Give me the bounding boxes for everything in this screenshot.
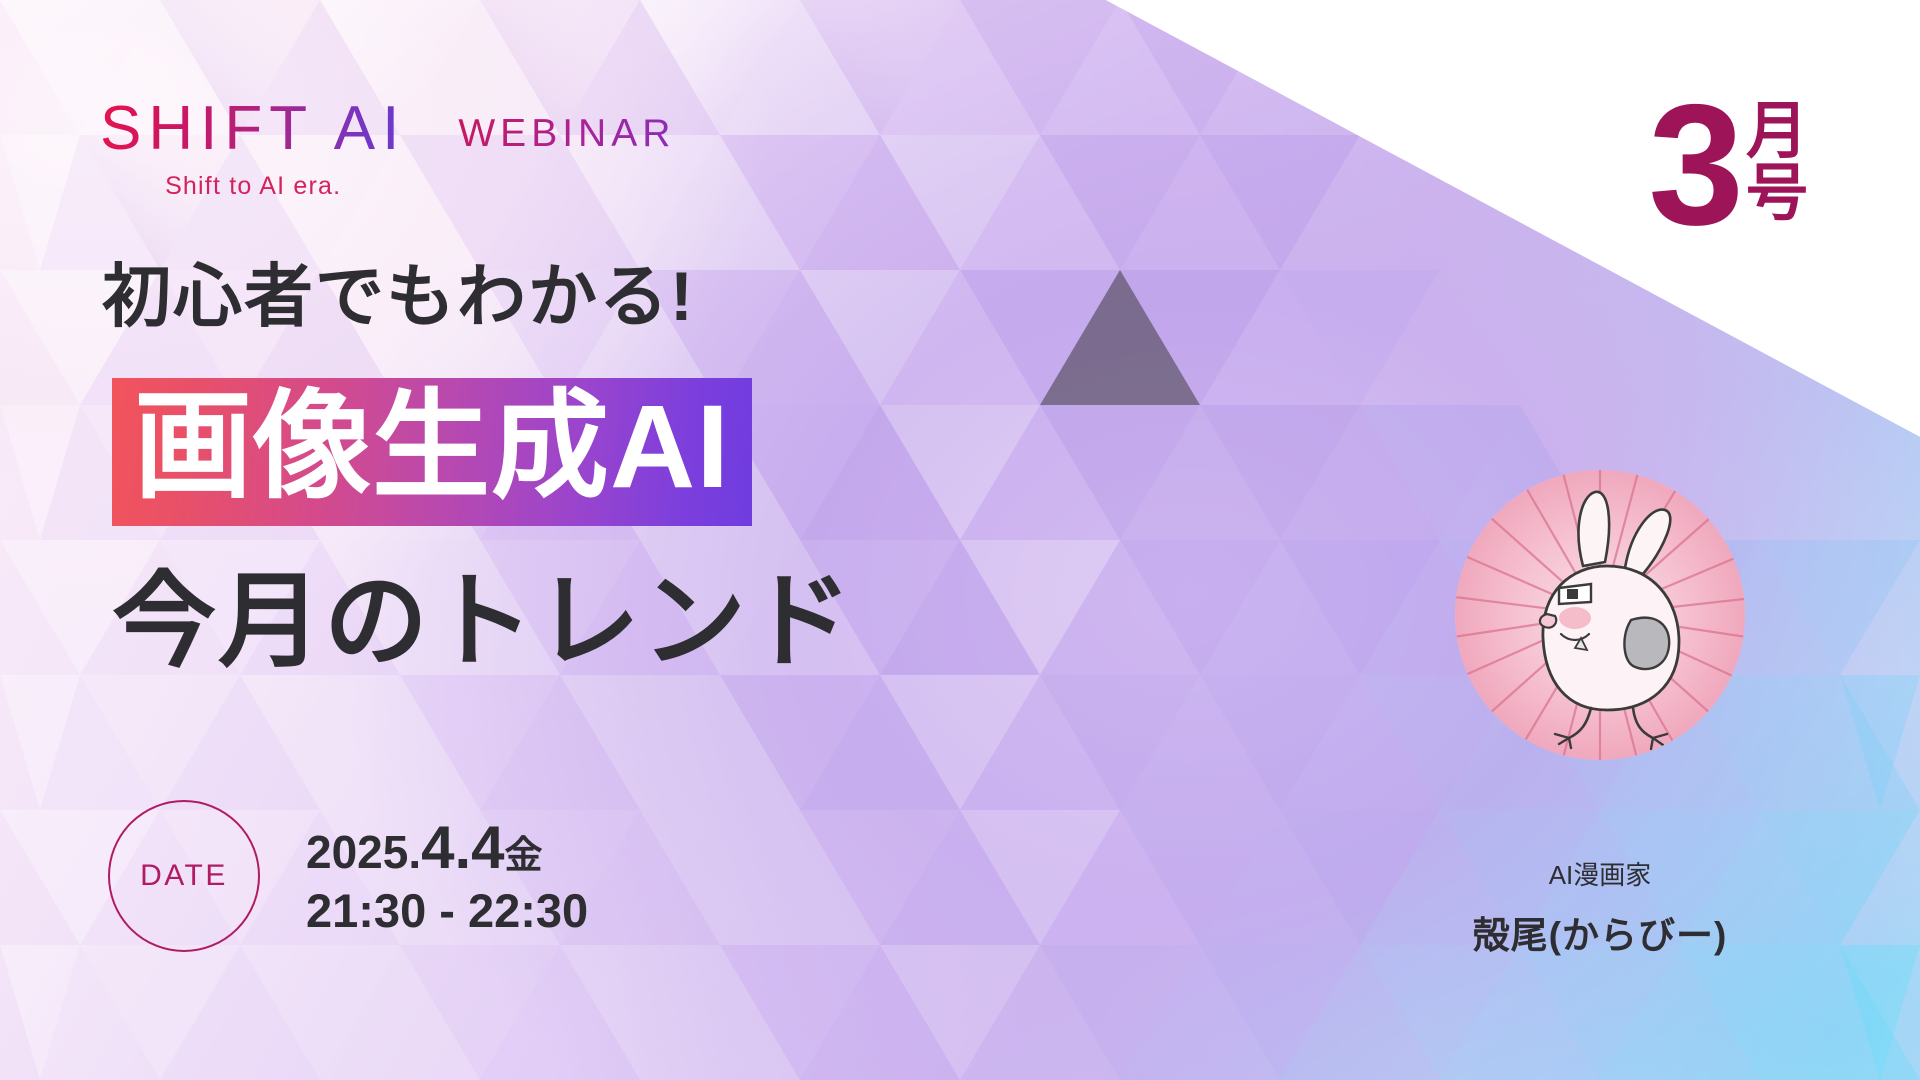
issue-unit-month: 月 (1746, 101, 1808, 163)
headline-highlight-box: 画像生成AI (112, 378, 752, 526)
date-year: 2025. (306, 826, 421, 878)
rabbit-character-icon (1455, 470, 1745, 760)
date-row: DATE 2025.4.4金 21:30 - 22:30 (108, 800, 588, 952)
issue-badge: 3 月 号 (1648, 88, 1808, 243)
date-text-block: 2025.4.4金 21:30 - 22:30 (306, 814, 588, 938)
logo-tagline: Shift to AI era. (100, 172, 406, 201)
speaker-avatar-wrap (1455, 470, 1745, 760)
banner-left-content: SHIFT AI Shift to AI era. WEBINAR 初心者でもわ… (0, 0, 1100, 1080)
date-badge-label: DATE (140, 859, 228, 893)
issue-number: 3 (1648, 88, 1740, 243)
issue-unit-issue: 号 (1746, 163, 1808, 225)
headline-line-3: 今月のトレンド (112, 570, 854, 674)
shift-ai-logo: SHIFT AI Shift to AI era. (100, 98, 406, 201)
logo-wordmark: SHIFT AI (100, 98, 406, 160)
date-time: 21:30 - 22:30 (306, 885, 588, 938)
date-month-day: 4.4 (421, 814, 504, 881)
avatar (1455, 470, 1745, 760)
webinar-label: WEBINAR (458, 112, 675, 156)
date-badge: DATE (108, 800, 260, 952)
date-weekday: 金 (505, 835, 543, 877)
issue-suffix: 月 号 (1746, 101, 1808, 225)
webinar-banner: SHIFT AI Shift to AI era. WEBINAR 初心者でもわ… (0, 0, 1920, 1080)
date-line-primary: 2025.4.4金 (306, 814, 588, 881)
brand-logo-row: SHIFT AI Shift to AI era. WEBINAR (100, 98, 675, 201)
speaker-role: AI漫画家 (1455, 855, 1745, 892)
headline-line-1: 初心者でもわかる! (102, 262, 695, 331)
headline-highlight-text: 画像生成AI (134, 386, 730, 510)
speaker-name: 殻尾(からびー) (1400, 905, 1800, 959)
